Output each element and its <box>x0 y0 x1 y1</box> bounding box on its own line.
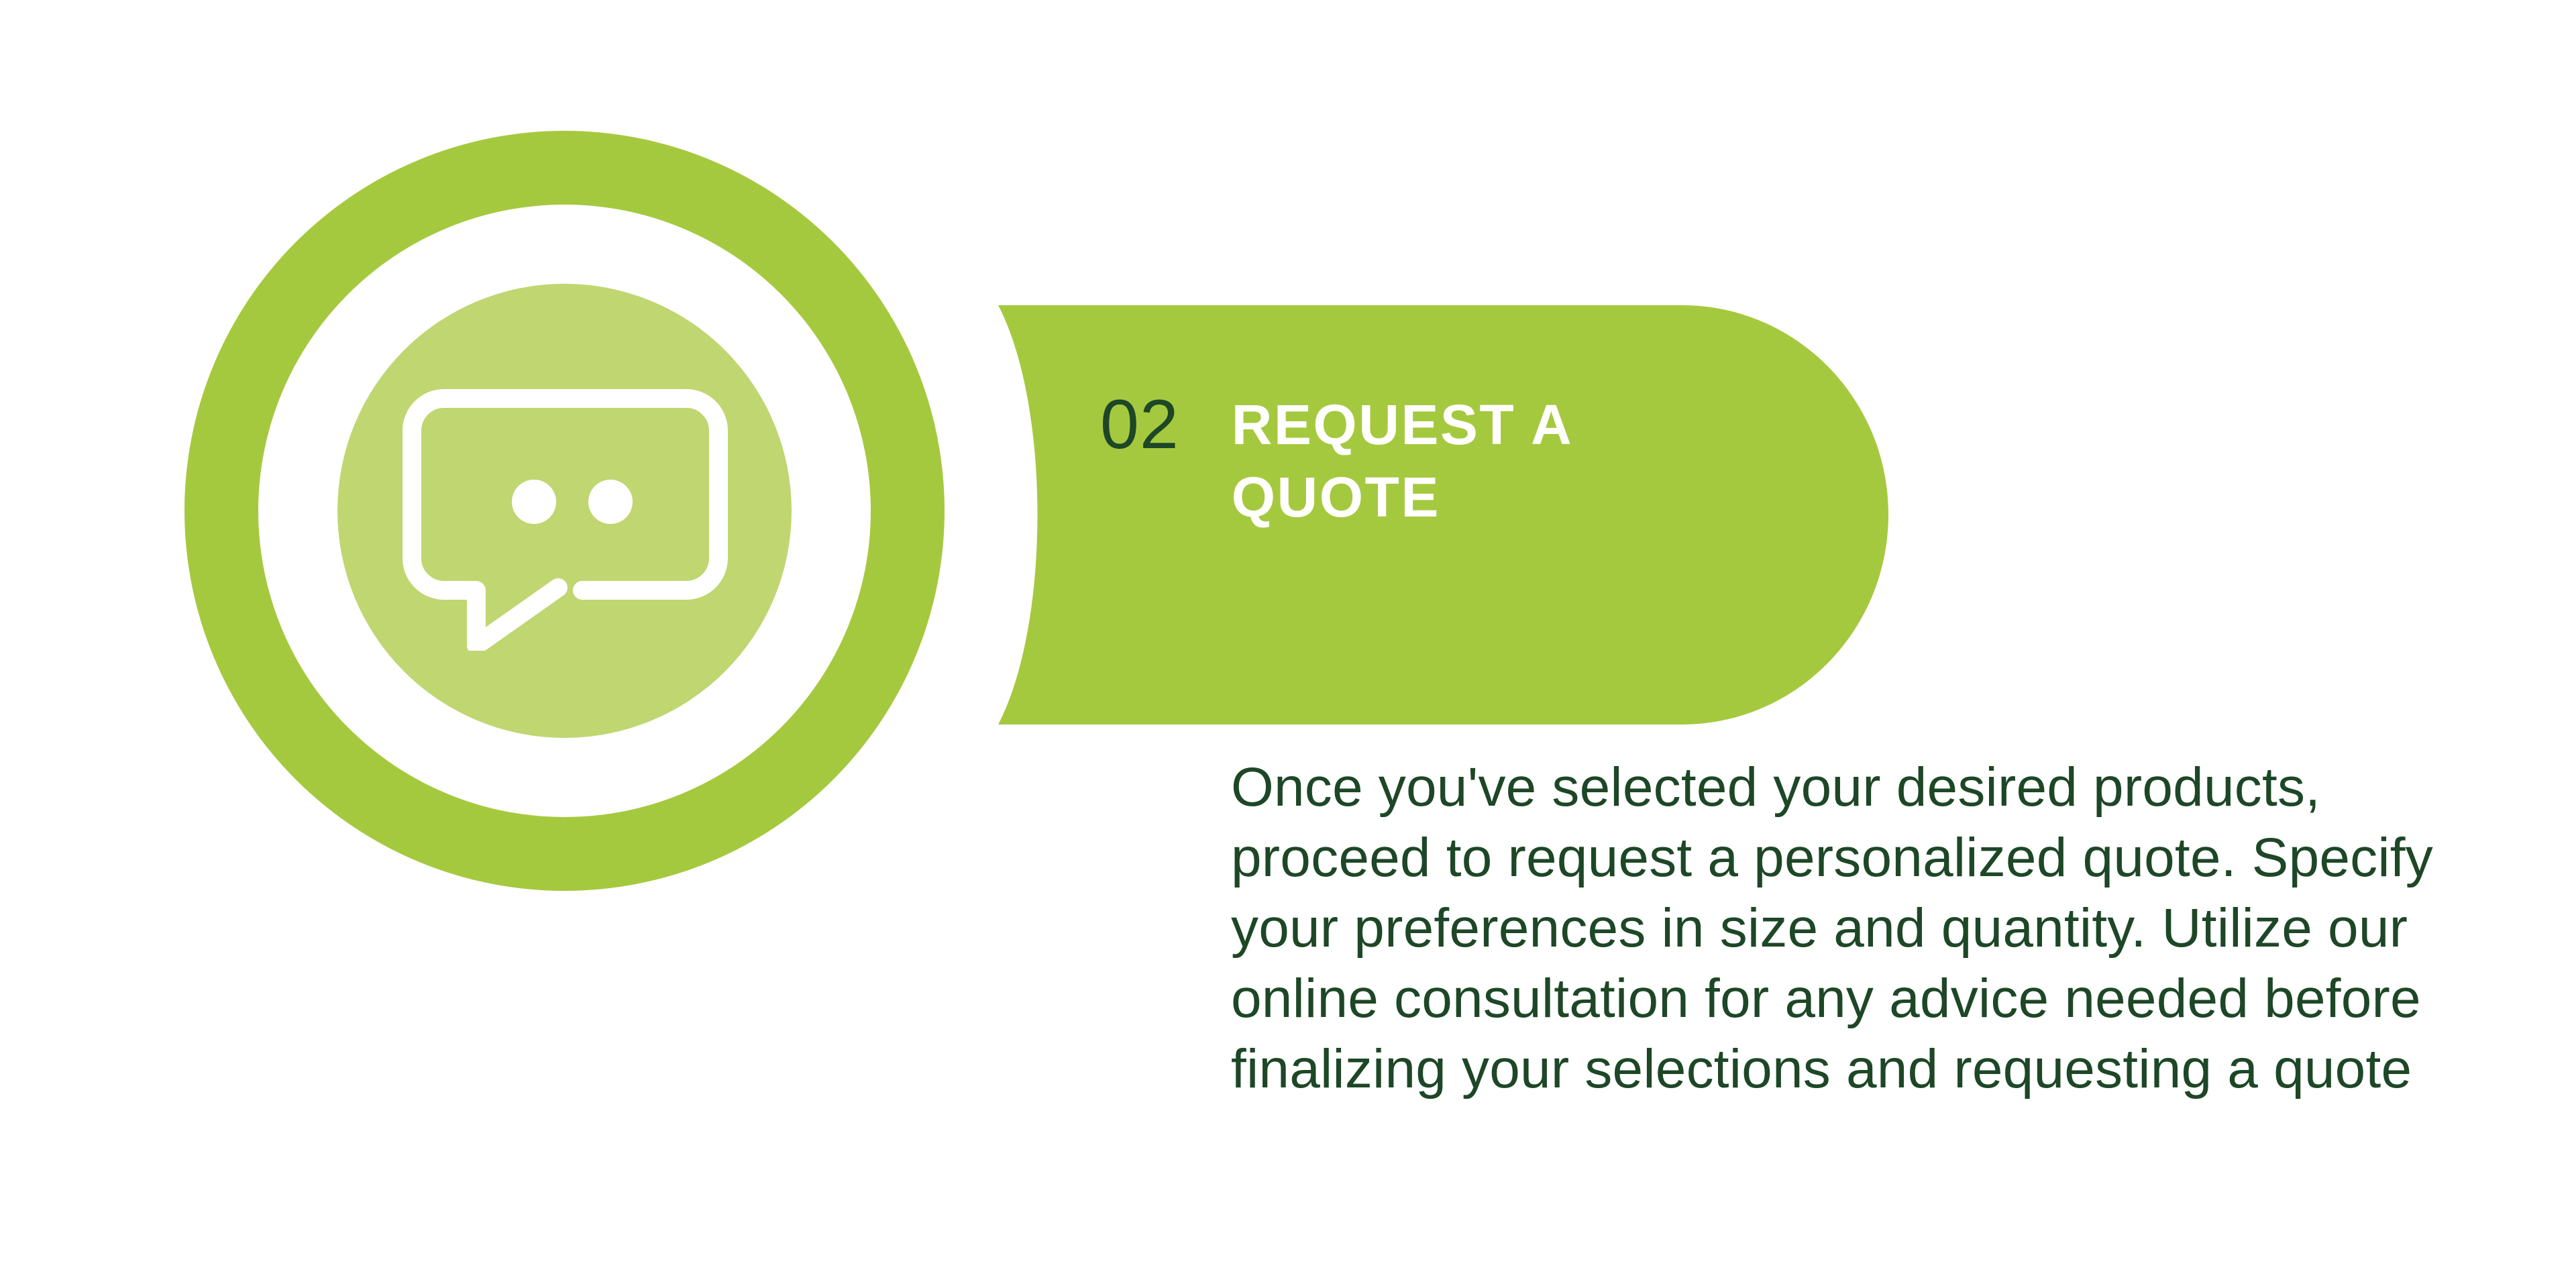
step-number: 02 <box>1100 389 1179 460</box>
description-text: Once you've selected your desired produc… <box>1231 753 2492 1105</box>
title-banner: 02 REQUEST A QUOTE <box>986 305 1888 724</box>
icon-medallion <box>184 131 945 891</box>
step-card: 02 REQUEST A QUOTE Once you've selected … <box>0 0 2576 1288</box>
banner-content: 02 REQUEST A QUOTE <box>1100 389 1701 533</box>
chat-bubble-icon <box>402 389 728 651</box>
page-title: REQUEST A QUOTE <box>1232 389 1701 533</box>
